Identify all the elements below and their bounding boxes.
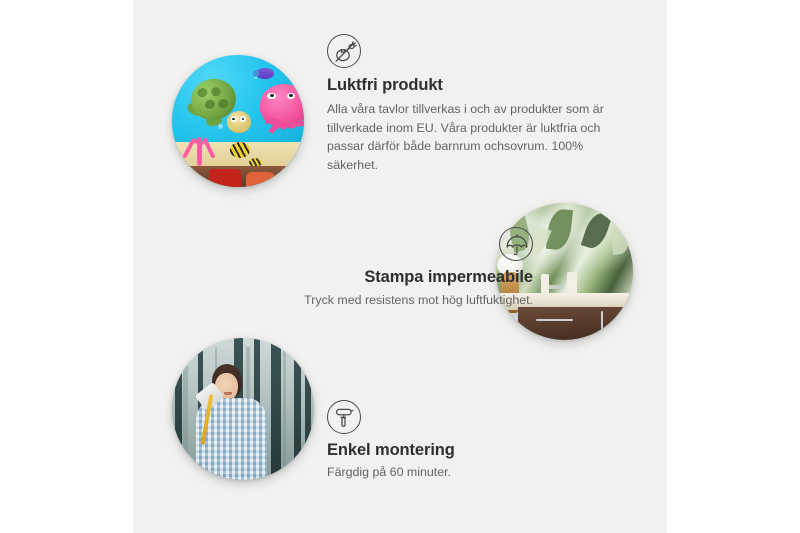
turtle-spot xyxy=(218,98,230,109)
feature-body: Tryck med resistens mot hög luftfuktighe… xyxy=(193,291,533,310)
drawer-handle xyxy=(536,319,573,321)
woman-smile xyxy=(224,392,232,395)
turtle-head xyxy=(227,111,251,133)
woman-figure xyxy=(195,364,272,480)
turtle-eye xyxy=(231,116,237,122)
turtle-spot xyxy=(211,86,223,97)
screenshot-canvas: Luktfri produkt Alla våra tavlor tillver… xyxy=(0,0,800,533)
feature-block-odourless: Luktfri produkt Alla våra tavlor tillver… xyxy=(327,34,625,174)
leaf-shape xyxy=(546,207,573,250)
coral-icon xyxy=(180,126,220,166)
leaf-shape xyxy=(609,221,631,255)
feature-title: Stampa impermeabile xyxy=(193,268,533,287)
cabinet-handle xyxy=(601,311,603,334)
feature-block-mounting: Enkel montering Färgdig på 60 minuter. xyxy=(327,400,587,482)
photo-circle-forest xyxy=(172,338,314,480)
feature-title: Enkel montering xyxy=(327,441,587,460)
umbrella-icon xyxy=(499,227,533,261)
octopus-eye xyxy=(267,93,275,99)
no-fragrance-icon xyxy=(327,34,361,68)
turtle-spot xyxy=(205,98,217,109)
forest-scene xyxy=(172,338,314,480)
sea-object-red xyxy=(209,169,241,187)
turtle-spot xyxy=(197,87,209,98)
octopus-eye xyxy=(287,93,295,99)
tree-far xyxy=(283,347,286,466)
feature-body: Färgdig på 60 minuter. xyxy=(327,463,587,482)
bathroom-vanity xyxy=(518,307,633,340)
tree xyxy=(294,338,301,480)
product-feature-panel: Luktfri produkt Alla våra tavlor tillver… xyxy=(133,0,667,533)
sea-object-orange xyxy=(246,172,275,187)
tree xyxy=(175,338,182,480)
feature-title: Luktfri produkt xyxy=(327,76,625,95)
fish-icon xyxy=(230,142,250,158)
photo-circle-sea xyxy=(172,55,304,187)
tree xyxy=(305,338,311,480)
coral-branch xyxy=(202,138,215,160)
fish-icon xyxy=(256,68,273,79)
tree-far xyxy=(183,347,187,466)
leaf-shape xyxy=(581,210,612,252)
feature-body: Alla våra tavlor tillverkas i och av pro… xyxy=(327,100,625,174)
paint-roller-icon xyxy=(327,400,361,434)
turtle-eye xyxy=(240,116,246,122)
feature-block-waterproof: Stampa impermeabile Tryck med resistens … xyxy=(193,227,533,310)
tree xyxy=(271,338,281,480)
sea-scene xyxy=(172,55,304,187)
